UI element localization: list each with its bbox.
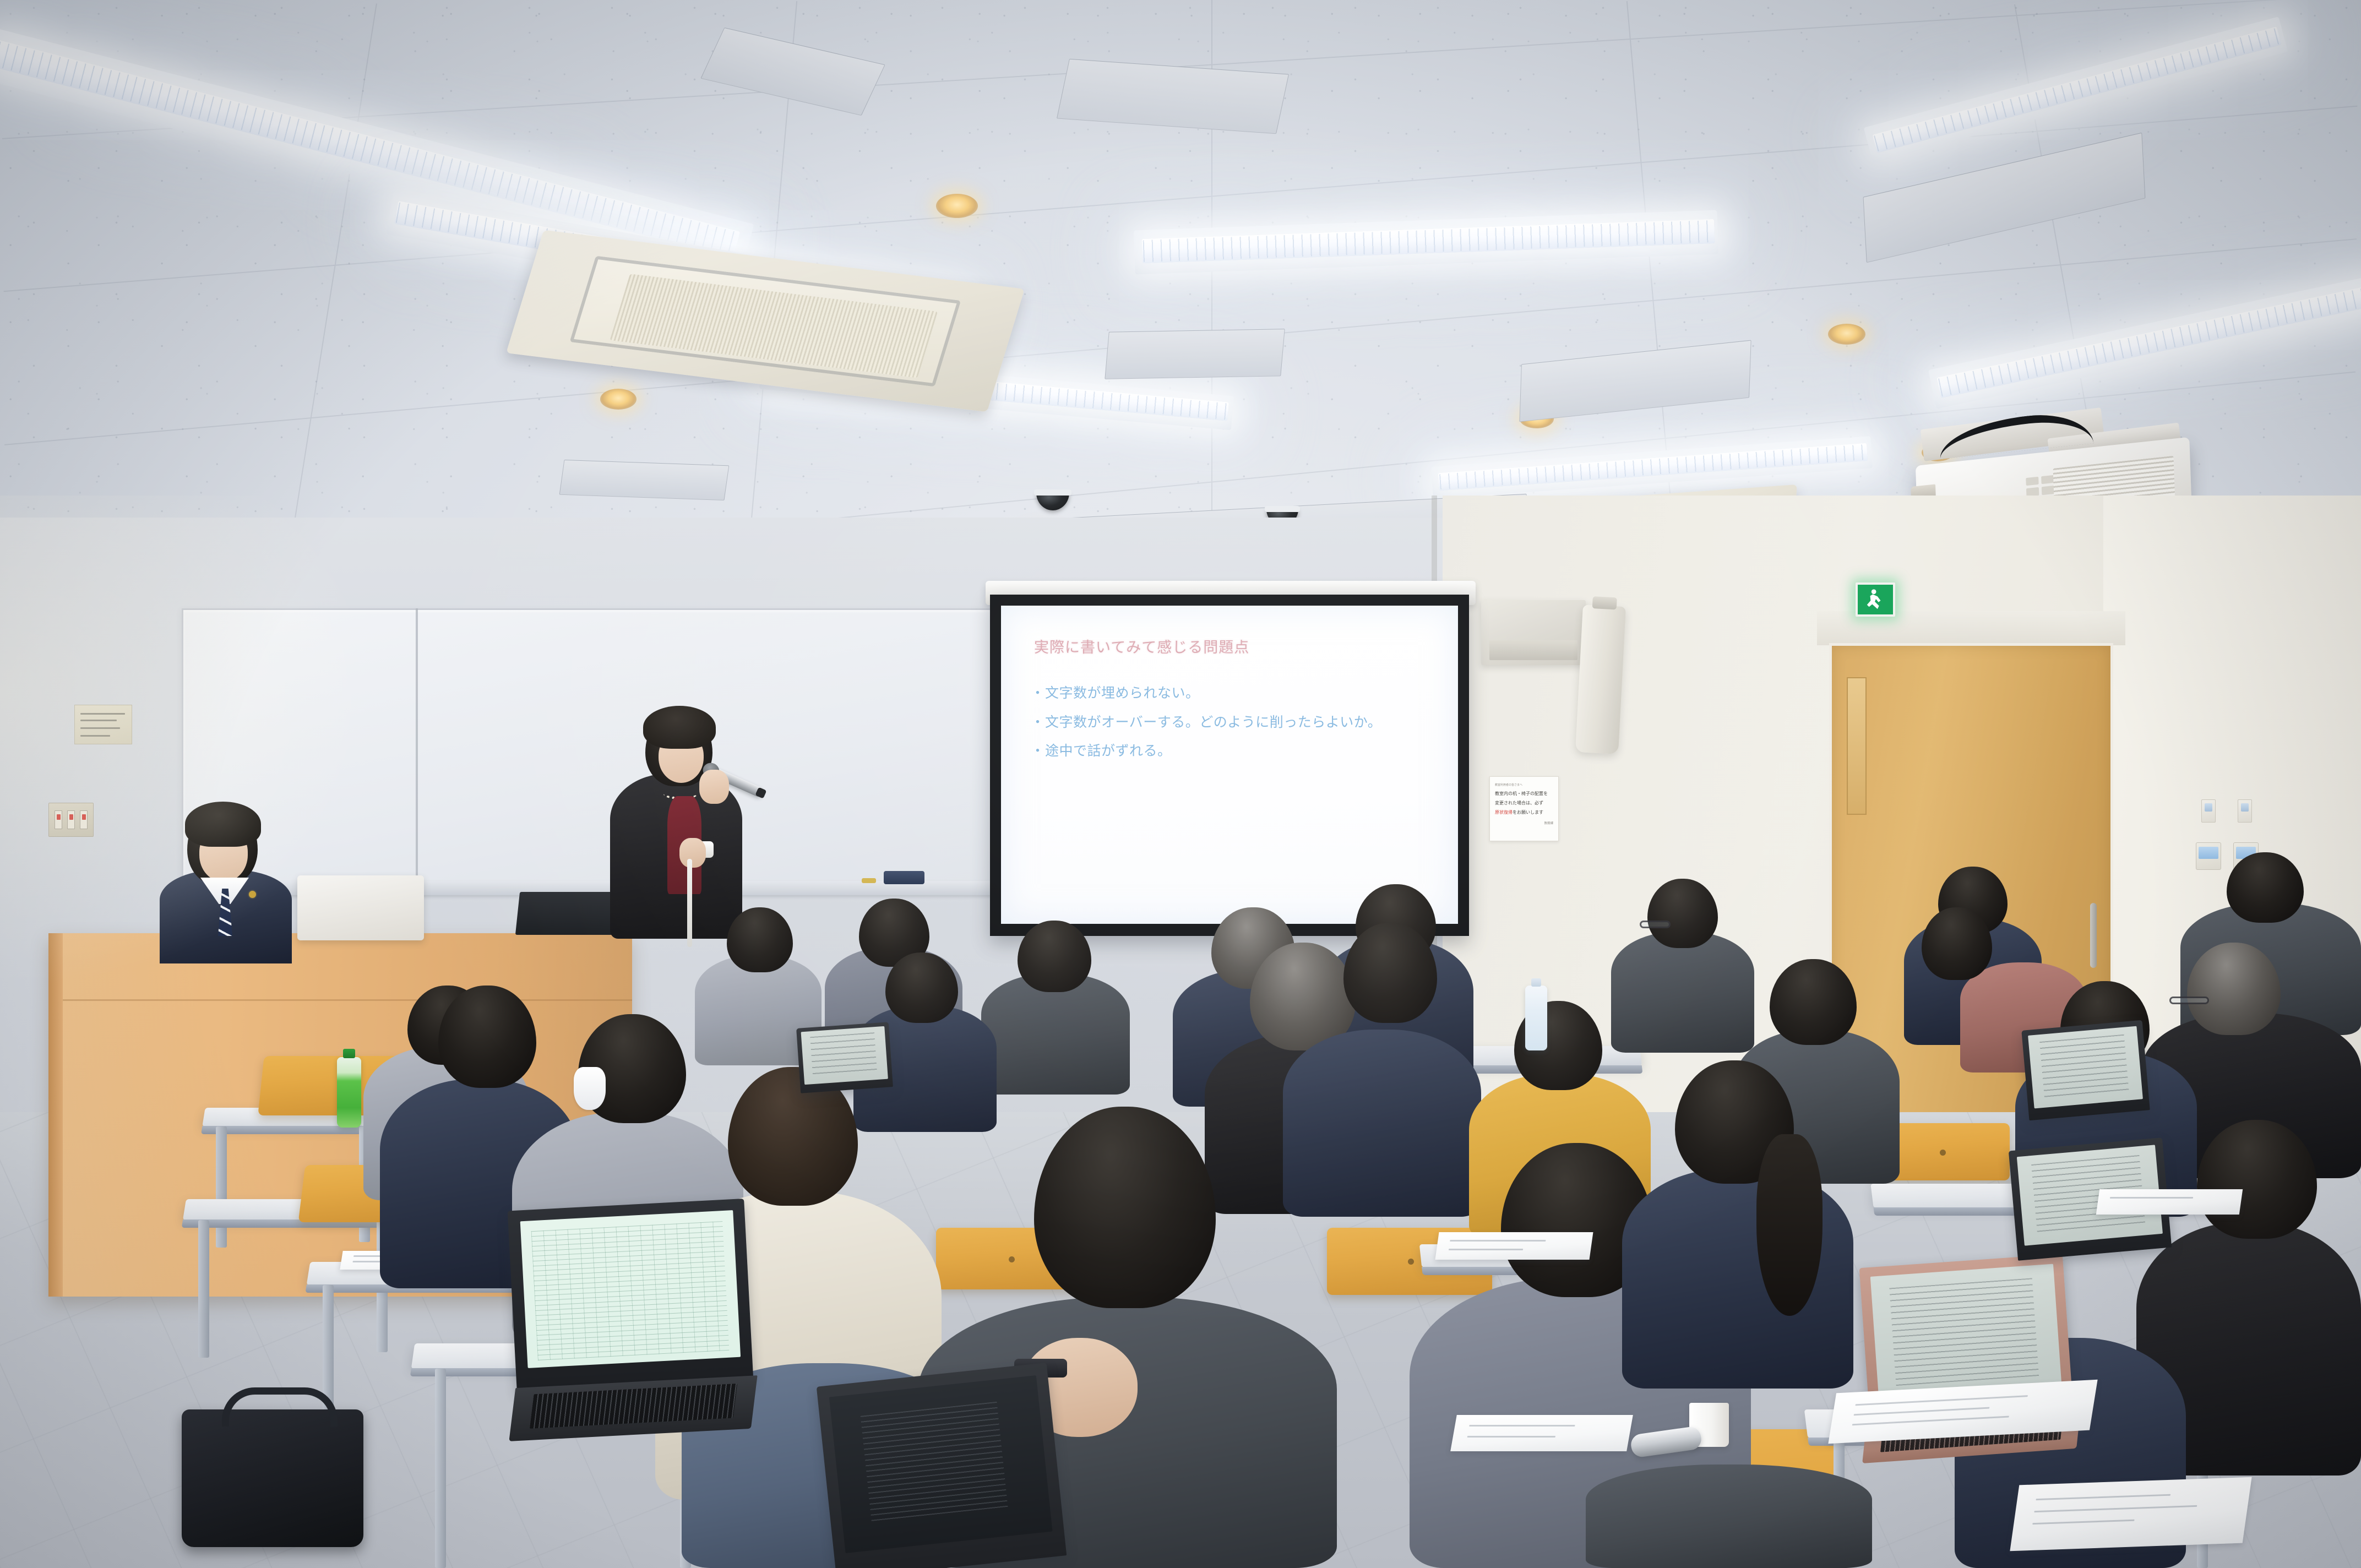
wall-notice: 教室利用者の皆さまへ 教室内の机・椅子の配置を 変更された場合は、必ず 原状復帰…	[1489, 776, 1559, 841]
laptop-lid[interactable]	[817, 1363, 1067, 1568]
presenter-hand-left	[679, 838, 706, 868]
ceiling-downlight	[936, 194, 978, 218]
face-mask	[574, 1067, 606, 1110]
wall-speaker	[1481, 600, 1586, 665]
podium-monitor	[297, 875, 424, 940]
laptop-keyboard[interactable]	[530, 1384, 737, 1428]
notice-line-3: 原状復帰をお願いします	[1495, 809, 1553, 816]
green-tea-bottle[interactable]	[337, 1057, 361, 1128]
handout-papers[interactable]	[2096, 1189, 2243, 1215]
emergency-exit-icon	[1856, 582, 1895, 617]
presenter-lanyard	[687, 859, 692, 947]
audience-head	[1343, 923, 1437, 1023]
slide-bullet: 途中で話がずれる。	[1034, 742, 1441, 761]
slide-bullet: 文字数が埋められない。	[1034, 684, 1441, 704]
slide-title: 実際に書いてみて感じる問題点	[1034, 638, 1441, 657]
audience-head	[1018, 921, 1091, 992]
podium-edge	[48, 933, 63, 1297]
ceiling-vent	[1105, 329, 1285, 379]
presenter-hand-right	[699, 770, 729, 804]
audience-head	[885, 952, 958, 1023]
audience-body	[1283, 1030, 1481, 1217]
audience-body	[1611, 932, 1754, 1053]
projection-screen: 実際に書いてみて感じる問題点 文字数が埋められない。 文字数がオーバーする。どの…	[1001, 606, 1458, 924]
laptop-lid[interactable]	[796, 1022, 893, 1093]
wall-switch-plate[interactable]	[2238, 799, 2252, 823]
eyeglasses	[2169, 997, 2209, 1004]
laptop-lid[interactable]	[2021, 1020, 2150, 1121]
running-person-glyph	[1865, 588, 1886, 611]
ceiling-downlight	[600, 389, 637, 410]
moderator-hair	[185, 802, 261, 847]
laptop-screen[interactable]	[2028, 1026, 2143, 1108]
ac-thermostat-panel[interactable]	[2196, 842, 2221, 870]
audience-head	[438, 986, 536, 1088]
light-switch-panel[interactable]	[48, 803, 94, 837]
door-handle[interactable]	[2090, 903, 2097, 968]
whiteboard	[182, 608, 1013, 884]
wall-switch-plate[interactable]	[2201, 799, 2216, 823]
notice-line-2: 変更された場合は、必ず	[1495, 800, 1553, 807]
audience-head	[1922, 907, 1992, 980]
presentation-slide: 実際に書いてみて感じる問題点 文字数が埋められない。 文字数がオーバーする。どの…	[1034, 638, 1441, 771]
shoulder-bag[interactable]	[182, 1409, 363, 1547]
desk-leg	[435, 1369, 446, 1568]
moderator-lapel-pin	[249, 891, 256, 898]
whiteboard-eraser[interactable]	[884, 871, 924, 884]
handout-papers[interactable]	[1435, 1232, 1593, 1260]
desk-leg	[198, 1220, 209, 1358]
thermostat-display	[2199, 847, 2218, 859]
water-bottle[interactable]	[1525, 986, 1547, 1050]
notice-line-3-rest: をお願いします	[1513, 810, 1543, 815]
laptop-screen[interactable]	[801, 1026, 888, 1085]
notice-signature: 教務課	[1495, 821, 1553, 825]
audience-head	[1770, 959, 1857, 1045]
whiteboard-panel-divider	[416, 608, 418, 884]
audience-head	[727, 907, 793, 972]
handout-papers[interactable]	[2010, 1477, 2251, 1551]
presenter-hair	[643, 706, 716, 749]
wall-plaque	[74, 705, 132, 744]
notice-header: 教室利用者の皆さまへ	[1495, 783, 1553, 788]
desk-leg	[216, 1126, 227, 1248]
slide-bullet-list: 文字数が埋められない。 文字数がオーバーする。どのように削ったらよいか。 途中で…	[1034, 684, 1441, 761]
handout-papers[interactable]	[1450, 1415, 1633, 1451]
laptop-screen[interactable]	[1870, 1264, 2061, 1402]
lecture-room-photo: 教室利用者の皆さまへ 教室内の机・椅子の配置を 変更された場合は、必ず 原状復帰…	[0, 0, 2361, 1568]
laptop-lid[interactable]	[508, 1199, 754, 1392]
notice-red-text: 原状復帰	[1495, 810, 1513, 815]
audience-head	[2227, 852, 2304, 923]
ponytail	[1756, 1134, 1823, 1316]
audience-head	[2197, 1120, 2317, 1239]
ceiling-vent	[559, 460, 730, 500]
audience-body	[1586, 1464, 1872, 1568]
notice-line-1: 教室内の机・椅子の配置を	[1495, 791, 1553, 797]
laptop-screen[interactable]	[520, 1210, 740, 1368]
column-speaker	[1575, 605, 1626, 754]
eyeglasses	[1640, 921, 1671, 928]
slide-bullet: 文字数がオーバーする。どのように削ったらよいか。	[1034, 713, 1441, 733]
audience-head	[1647, 879, 1718, 948]
laptop-screen[interactable]	[829, 1375, 1053, 1553]
audience-head	[2187, 943, 2281, 1035]
door-vision-panel	[1847, 677, 1867, 815]
whiteboard-marker[interactable]	[862, 878, 876, 883]
ceiling-downlight	[1828, 324, 1865, 345]
